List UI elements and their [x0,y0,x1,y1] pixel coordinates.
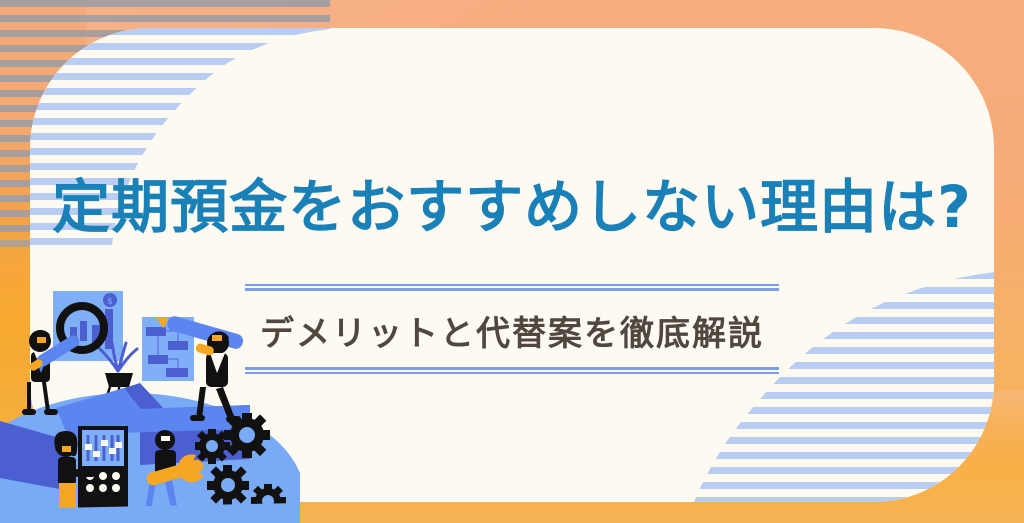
illustration-business-analytics-team: $ [0,283,300,523]
divider-top [245,284,779,292]
coin-symbol: $ [107,297,113,307]
page-subtitle: デメリットと代替案を徹底解説 [260,292,764,367]
page-title: 定期預金をおすすめしない理由は? [30,160,994,244]
mini-bar [80,321,87,341]
flowchart-node [166,368,188,377]
divider-bottom [245,367,779,375]
flowchart-node [148,355,168,364]
flowchart-node [146,327,166,336]
flowchart-node [168,341,188,350]
banner-canvas: 定期預金をおすすめしない理由は? デメリットと代替案を徹底解説 $ [0,0,1024,523]
